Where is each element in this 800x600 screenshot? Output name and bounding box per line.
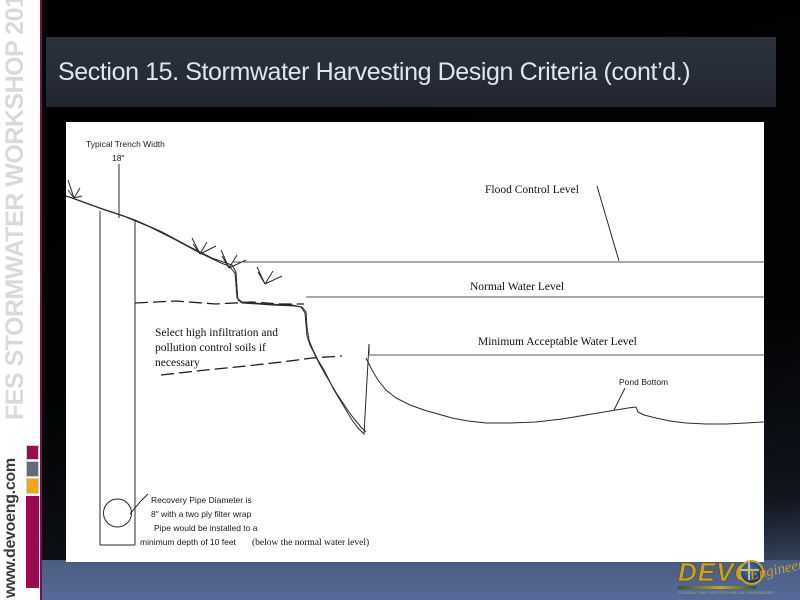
label-pipe-note-line4: minimum depth of 10 feet (140, 537, 237, 547)
slide-title-bar: Section 15. Stormwater Harvesting Design… (46, 37, 776, 107)
label-pipe-note-line3: Pipe would be installed to a (154, 523, 258, 533)
label-soils-note-line2: pollution control soils if (155, 342, 266, 354)
bank-profile-line (66, 196, 366, 432)
sidebar-website-link[interactable]: www.devoeng.com (2, 430, 20, 598)
slide-canvas: FES STORMWATER WORKSHOP 2010 www.devoeng… (0, 0, 800, 600)
label-pipe-note-line4b: (below the normal water level) (252, 537, 369, 548)
ground-surface-line (66, 196, 369, 434)
sidebar-conference-title-wrap: FES STORMWATER WORKSHOP 2010 (0, 0, 40, 430)
sidebar-swatch-magenta (26, 445, 39, 460)
label-trench-width-line1: Typical Trench Width (86, 139, 165, 149)
section-drawing: Typical Trench Width 18" Select high inf… (66, 122, 764, 562)
soil-interface-dashed-line (135, 301, 304, 304)
recovery-trench (100, 211, 135, 545)
flood-control-leader (597, 186, 619, 261)
page-title: Section 15. Stormwater Harvesting Design… (46, 58, 690, 87)
sidebar-swatch-slate (26, 461, 39, 477)
pond-bottom-leader (614, 388, 625, 410)
sidebar-conference-title: FES STORMWATER WORKSHOP 2010 (1, 0, 30, 420)
sidebar-swatch-amber (26, 478, 39, 494)
label-soils-note-line1: Select high infiltration and (155, 327, 278, 339)
recovery-pipe-leader (130, 494, 148, 514)
label-pond-bottom: Pond Bottom (619, 377, 668, 387)
sidebar-accent-bar (26, 496, 39, 588)
label-normal-water-level: Normal Water Level (470, 281, 564, 293)
label-minimum-acceptable-water-level: Minimum Acceptable Water Level (478, 336, 637, 348)
diagram-panel: Typical Trench Width 18" Select high inf… (66, 122, 764, 562)
left-sidebar: FES STORMWATER WORKSHOP 2010 www.devoeng… (0, 0, 42, 600)
label-pipe-note-line1: Recovery Pipe Diameter is (151, 495, 252, 505)
logo-rule (678, 586, 756, 589)
label-pipe-note-line2: 8" with a two ply filter wrap (151, 509, 252, 519)
label-trench-width-line2: 18" (112, 153, 124, 163)
logo-tagline: CONSULTING GEOTECHNICAL ENGINEERS (678, 590, 774, 595)
label-flood-control-level: Flood Control Level (485, 184, 579, 196)
recovery-pipe-circle (104, 499, 132, 527)
devo-engineering-logo: DEVO Engineering CONSULTING GEOTECHNICAL… (676, 556, 796, 600)
sidebar-website-wrap: www.devoeng.com (0, 430, 28, 600)
pond-bottom-line (366, 358, 764, 424)
label-soils-note-line3: necessary (155, 357, 200, 369)
